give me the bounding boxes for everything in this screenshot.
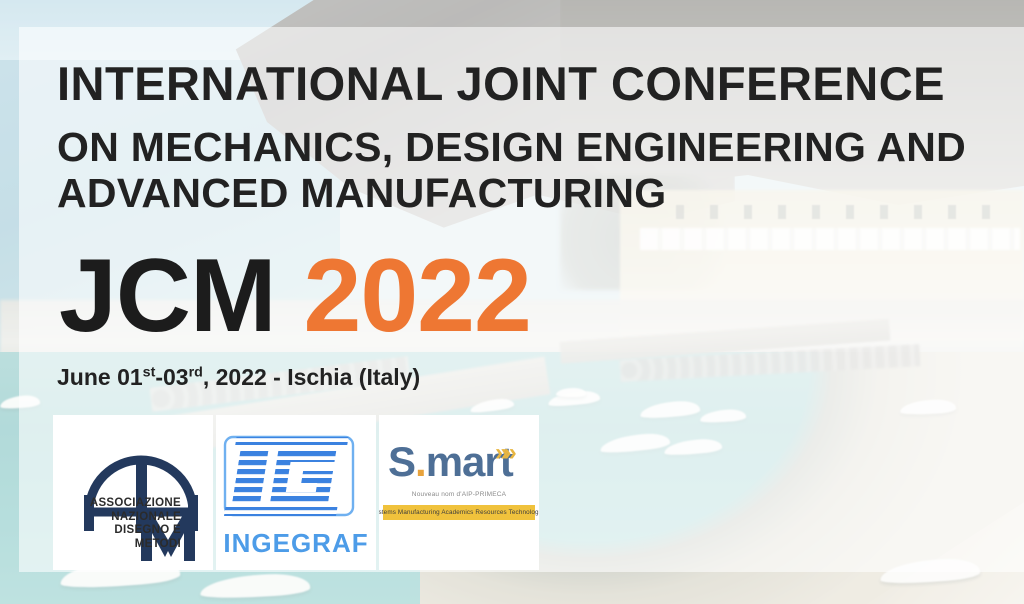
- conference-title-line-2: ON MECHANICS, DESIGN ENGINEERING AND: [57, 125, 997, 171]
- ingegraf-wordmark: INGEGRAF: [216, 528, 376, 559]
- smart-letter-s: S: [388, 438, 415, 485]
- smart-dot: .: [415, 438, 426, 485]
- date-suffix: , 2022 - Ischia (Italy): [203, 364, 420, 390]
- chevron-arrows-icon: »»: [495, 439, 512, 467]
- ingegraf-mark-icon: [216, 415, 376, 527]
- adm-line-4: METODI: [63, 538, 181, 552]
- conference-banner: INTERNATIONAL JOINT CONFERENCE ON MECHAN…: [0, 0, 1024, 604]
- smart-subtitle: Nouveau nom d'AIP-PRIMECA: [379, 491, 539, 498]
- adm-line-2: NAZIONALE: [63, 511, 181, 525]
- banner-content: INTERNATIONAL JOINT CONFERENCE ON MECHAN…: [19, 27, 1024, 572]
- smart-tagline-band: Systems Manufacturing Academics Resource…: [383, 505, 535, 520]
- logo-ingegraf[interactable]: INGEGRAF: [216, 415, 376, 570]
- adm-line-1: ASSOCIAZIONE: [63, 497, 181, 511]
- conference-title-line-1: INTERNATIONAL JOINT CONFERENCE: [57, 60, 945, 107]
- conference-acronym-block: JCM2022: [59, 244, 531, 348]
- date-prefix: June 01: [57, 364, 143, 390]
- acronym-year: 2022: [276, 238, 531, 354]
- sponsor-logos: ASSOCIAZIONE NAZIONALE DISEGNO E METODI: [53, 415, 539, 570]
- adm-line-3: DISEGNO E: [63, 524, 181, 538]
- logo-smart[interactable]: S.mart »» Nouveau nom d'AIP-PRIMECA Syst…: [379, 415, 539, 570]
- smart-tagline: Systems Manufacturing Academics Resource…: [379, 509, 539, 516]
- date-location-line: June 01st-03rd, 2022 - Ischia (Italy): [57, 364, 420, 391]
- adm-logo-text: ASSOCIAZIONE NAZIONALE DISEGNO E METODI: [63, 497, 181, 551]
- conference-title-line-3: ADVANCED MANUFACTURING: [57, 171, 997, 217]
- conference-subtitle: ON MECHANICS, DESIGN ENGINEERING AND ADV…: [57, 125, 997, 217]
- date-middle: -03: [155, 364, 188, 390]
- acronym-text: JCM: [59, 238, 276, 354]
- date-ordinal-first: st: [143, 364, 156, 380]
- date-ordinal-second: rd: [189, 364, 203, 380]
- logo-adm[interactable]: ASSOCIAZIONE NAZIONALE DISEGNO E METODI: [53, 415, 213, 570]
